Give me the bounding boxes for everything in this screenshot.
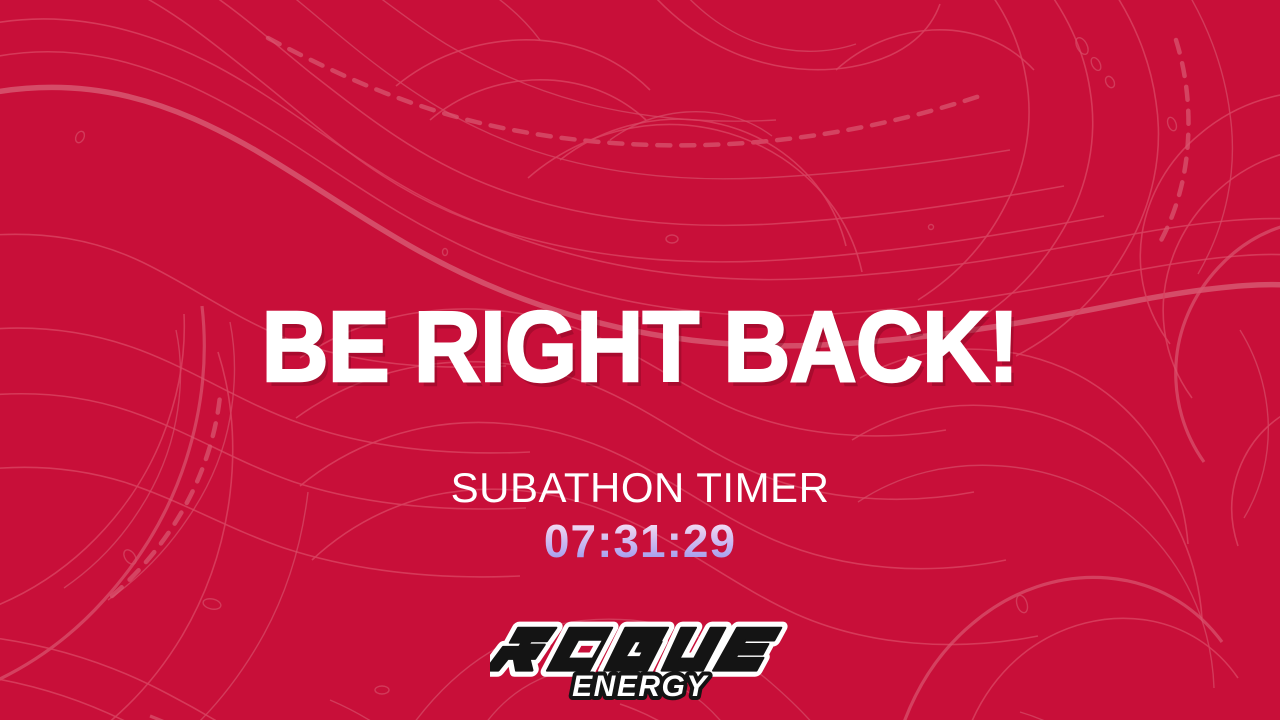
timer-container: 07:31:29 [0, 518, 1280, 564]
svg-text:ENERGY: ENERGY [572, 670, 709, 703]
energy-wordmark: ENERGY ENERGY [572, 670, 709, 703]
headline-container: BE RIGHT BACK! [0, 297, 1280, 397]
rogue-energy-logo-mark: ENERGY ENERGY [490, 618, 790, 710]
center-content-stack: BE RIGHT BACK! SUBATHON TIMER 07:31:29 [0, 0, 1280, 720]
subtitle-container: SUBATHON TIMER [0, 467, 1280, 509]
subathon-timer-label: SUBATHON TIMER [451, 467, 830, 509]
page-title: BE RIGHT BACK! [262, 297, 1019, 397]
brb-screen: .c { fill:none; stroke:#d8415f; stroke-w… [0, 0, 1280, 720]
subathon-timer-value: 07:31:29 [544, 518, 736, 564]
brand-logo: ENERGY ENERGY [0, 618, 1280, 710]
